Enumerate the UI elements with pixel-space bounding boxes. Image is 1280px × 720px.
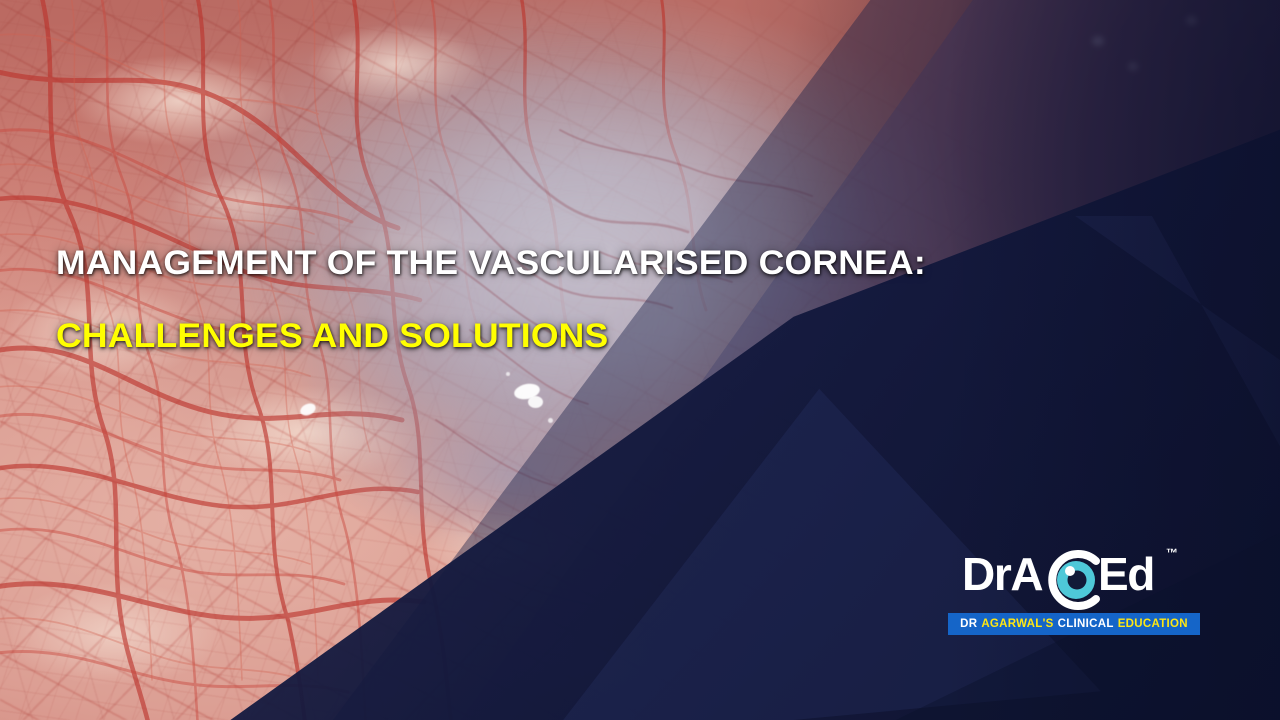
title-line-primary: MANAGEMENT OF THE VASCULARISED CORNEA: <box>56 246 1164 280</box>
tagline-word-agarwals: AGARWAL'S <box>981 618 1053 630</box>
draced-logo[interactable]: DrA Ed ™ DR AGARWAL'S CLINICAL EDUCATION <box>948 543 1200 639</box>
tagline-word-education: EDUCATION <box>1118 618 1188 630</box>
logo-wordmark: DrA Ed ™ <box>948 543 1200 613</box>
logo-word-dra: DrA <box>962 551 1042 597</box>
logo-word-ed: Ed <box>1098 551 1154 597</box>
tagline-word-clinical: CLINICAL <box>1058 618 1114 630</box>
title-line-secondary: CHALLENGES AND SOLUTIONS <box>56 319 1164 353</box>
tagline-word-dr: DR <box>960 618 977 630</box>
logo-tagline-banner: DR AGARWAL'S CLINICAL EDUCATION <box>948 613 1200 635</box>
title-slide: MANAGEMENT OF THE VASCULARISED CORNEA: C… <box>0 0 1280 720</box>
title-block: MANAGEMENT OF THE VASCULARISED CORNEA: C… <box>56 246 1116 353</box>
trademark-symbol: ™ <box>1166 547 1178 559</box>
